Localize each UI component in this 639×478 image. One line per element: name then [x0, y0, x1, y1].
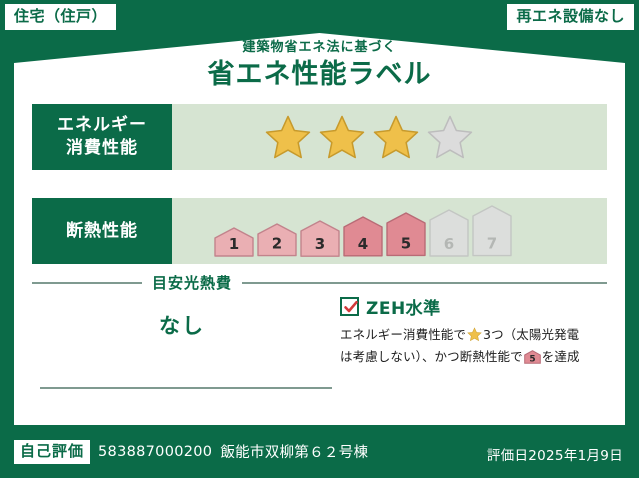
label-id: 583887000200 [98, 444, 212, 460]
star-filled-icon [372, 114, 420, 160]
star-filled-icon [318, 114, 366, 160]
inline-insulation-badge: 5 [524, 350, 541, 369]
zeh-title-row: ZEH水準 [340, 294, 608, 319]
bottom-divider [40, 387, 332, 389]
insulation-step-1: 1 [214, 227, 254, 257]
energy-performance-row: エネルギー 消費性能 [32, 104, 607, 170]
svg-text:4: 4 [358, 235, 368, 253]
insulation-step-2: 2 [257, 223, 297, 257]
property-address: 飯能市双柳第６２号棟 [220, 441, 368, 462]
renewable-energy-tag: 再エネ設備なし [507, 4, 634, 30]
insulation-performance-row: 断熱性能 1234567 [32, 198, 607, 264]
svg-text:6: 6 [444, 235, 454, 253]
bottom-area: 目安光熱費 なし ZEH水準 エネルギー消費性能で 3つ（太陽光発電は考慮しない… [32, 272, 607, 402]
svg-text:1: 1 [229, 235, 239, 253]
insulation-step-7: 7 [472, 205, 512, 257]
insulation-label-line1: 断熱性能 [66, 220, 138, 243]
zeh-description: エネルギー消費性能で 3つ（太陽光発電は考慮しない）、かつ断熱性能で5を達成 [340, 325, 608, 370]
zeh-desc-part3: を達成 [542, 349, 580, 364]
rule-left [32, 282, 142, 284]
svg-text:2: 2 [272, 235, 282, 253]
rule-right [242, 282, 607, 284]
energy-performance-value [172, 104, 607, 170]
evaluation-date: 評価日2025年1月9日 [487, 444, 623, 464]
star-rating [264, 114, 474, 160]
assessment-type-badge: 自己評価 [14, 440, 90, 464]
energy-label-line1: エネルギー [57, 114, 147, 137]
energy-cost-heading: 目安光熱費 [142, 272, 242, 293]
energy-cost-heading-row: 目安光熱費 [32, 272, 607, 293]
energy-performance-label: 住宅（住戸） 再エネ設備なし 建築物省エネ法に基づく 省エネ性能ラベル エネルギ… [0, 0, 639, 478]
insulation-step-5: 5 [386, 212, 426, 256]
building-type-tag: 住宅（住戸） [5, 4, 116, 30]
zeh-checkbox[interactable] [340, 297, 359, 316]
insulation-step-4: 4 [343, 216, 383, 257]
svg-text:3: 3 [315, 235, 325, 253]
footer-left: 自己評価 583887000200 飯能市双柳第６２号棟 [14, 440, 368, 464]
energy-cost-value: なし [32, 310, 332, 340]
star-empty-icon [426, 114, 474, 160]
inline-star-icon [467, 327, 482, 347]
insulation-step-6: 6 [429, 209, 469, 257]
zeh-title: ZEH水準 [366, 294, 441, 319]
insulation-grade-scale: 1234567 [214, 205, 512, 257]
insulation-step-3: 3 [300, 220, 340, 257]
zeh-block: ZEH水準 エネルギー消費性能で 3つ（太陽光発電は考慮しない）、かつ断熱性能で… [340, 294, 608, 370]
footer: 自己評価 583887000200 飯能市双柳第６２号棟 評価日2025年1月9… [0, 426, 639, 478]
svg-text:5: 5 [401, 235, 411, 253]
check-icon [343, 299, 359, 315]
insulation-performance-value: 1234567 [172, 198, 607, 264]
zeh-desc-part1: エネルギー消費性能で [340, 327, 466, 342]
star-filled-icon [264, 114, 312, 160]
zeh-desc-stars: 3つ（太陽光発電 [483, 327, 579, 342]
zeh-desc-part2: は考慮しない）、かつ断熱性能で [340, 349, 523, 364]
insulation-performance-label-box: 断熱性能 [32, 198, 172, 264]
svg-text:7: 7 [487, 235, 497, 253]
svg-text:5: 5 [529, 355, 535, 365]
energy-label-line2: 消費性能 [66, 137, 138, 160]
energy-performance-label-box: エネルギー 消費性能 [32, 104, 172, 170]
